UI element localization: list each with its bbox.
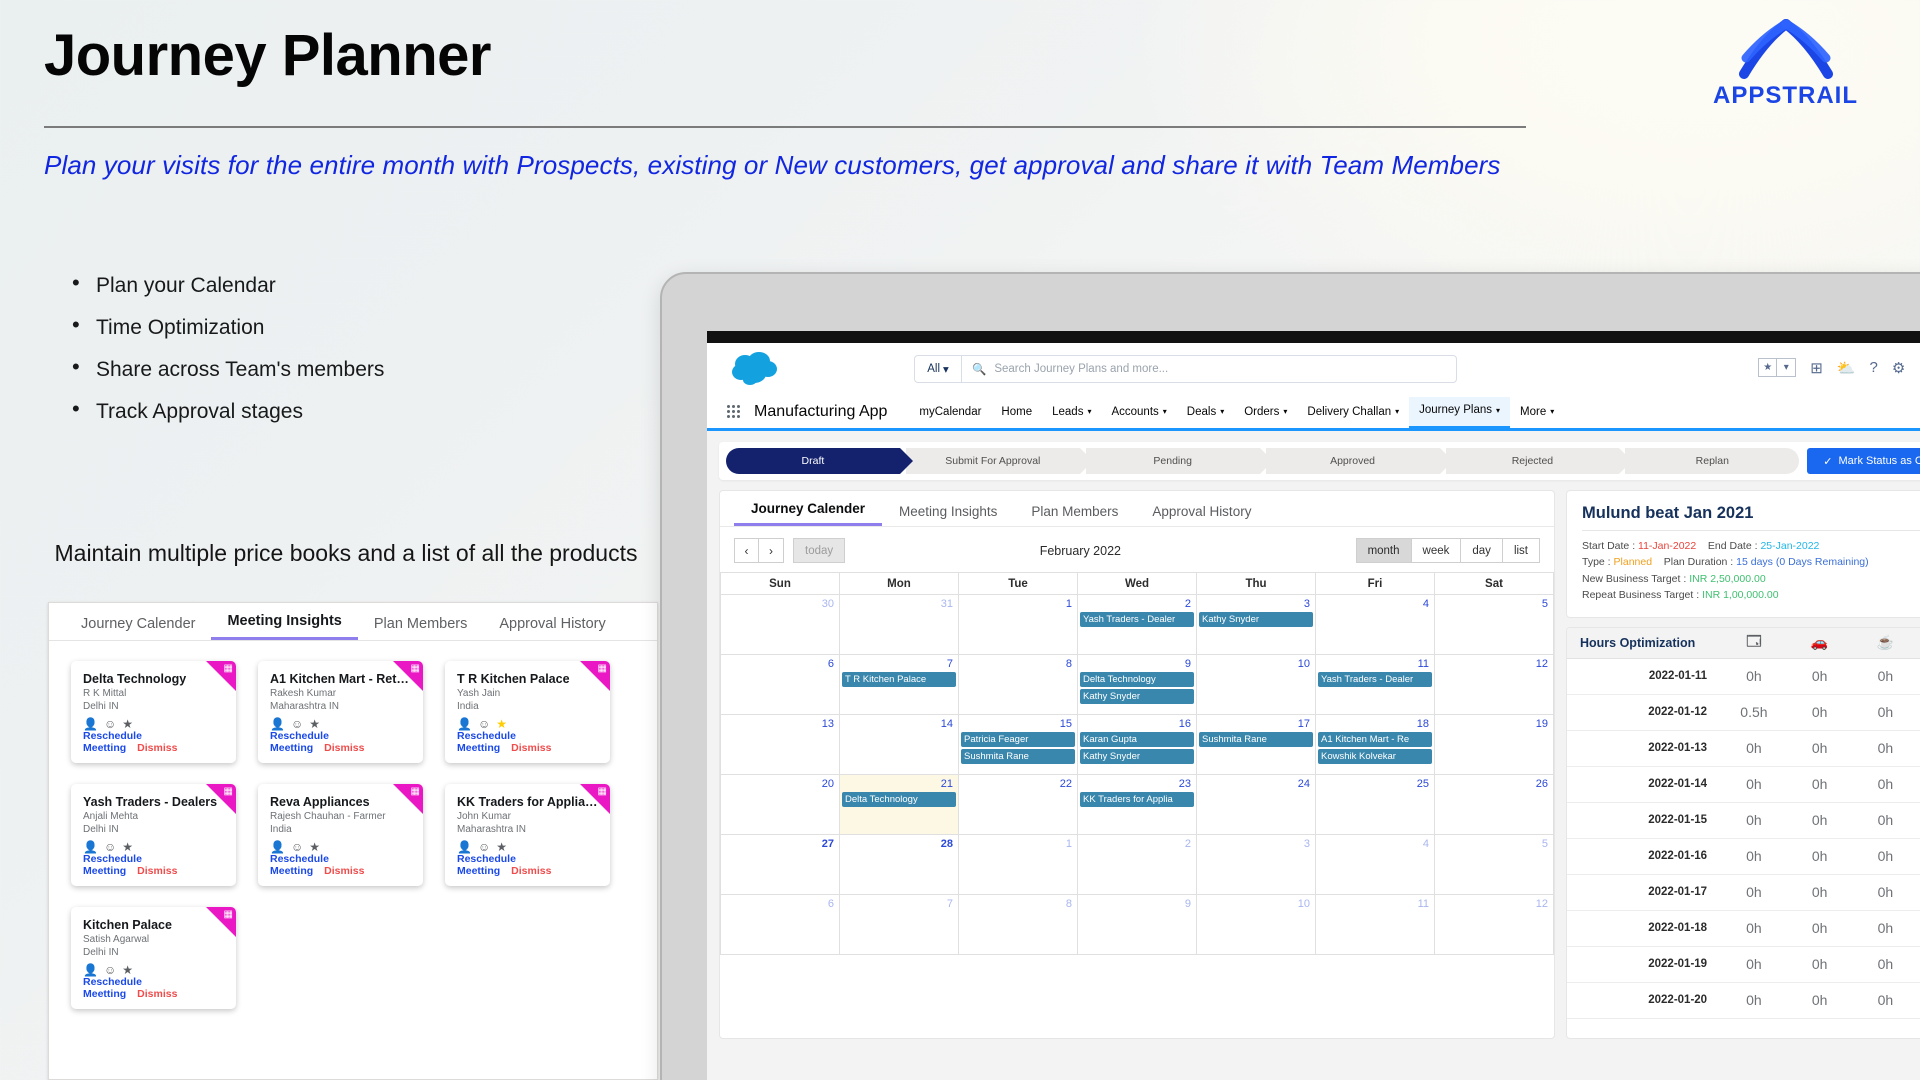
feature-bullet-2: Time Optimization bbox=[68, 317, 384, 338]
nav-item-label: Deals bbox=[1187, 406, 1216, 418]
reschedule-meeting-link[interactable]: Reschedule Meetting bbox=[457, 730, 516, 754]
card-actions: Reschedule MeettingDismiss bbox=[457, 730, 610, 754]
calendar-event[interactable]: T R Kitchen Palace bbox=[842, 672, 956, 687]
hours-value-3: 0h bbox=[1853, 766, 1919, 802]
weekday-wed: Wed bbox=[1078, 573, 1197, 595]
calendar-event[interactable]: Yash Traders - Dealer bbox=[1318, 672, 1432, 687]
meeting-insight-card[interactable]: ▦Yash Traders - DealersAnjali MehtaDelhi… bbox=[71, 784, 236, 886]
hours-value-2: 0h bbox=[1787, 730, 1853, 766]
hours-date: 2022-01-12 bbox=[1567, 694, 1721, 730]
calendar-event[interactable]: Delta Technology bbox=[1080, 672, 1194, 687]
nav-item-deals[interactable]: Deals▾ bbox=[1177, 399, 1234, 425]
calendar-view-list[interactable]: list bbox=[1503, 538, 1540, 563]
nav-item-orders[interactable]: Orders▾ bbox=[1234, 399, 1297, 425]
search-scope-value: All bbox=[927, 363, 940, 375]
calendar-week-row: 131415Patricia FeagerSushmita Rane16Kara… bbox=[721, 715, 1554, 775]
day-number: 17 bbox=[1199, 717, 1313, 732]
nav-item-label: More bbox=[1520, 406, 1546, 418]
next-month-button[interactable]: › bbox=[759, 538, 784, 563]
new-target-label: New Business Target : bbox=[1582, 573, 1686, 585]
salesforce-app: All ▾ 🔍 Search Journey Plans and more...… bbox=[707, 343, 1920, 1080]
hours-date: 2022-01-15 bbox=[1567, 802, 1721, 838]
reschedule-meeting-link[interactable]: Reschedule Meetting bbox=[457, 853, 516, 877]
weekday-mon: Mon bbox=[840, 573, 959, 595]
page-subtitle: Plan your visits for the entire month wi… bbox=[44, 148, 1529, 184]
reschedule-meeting-link[interactable]: Reschedule Meetting bbox=[270, 853, 329, 877]
hours-row: 2022-01-120.5h0h0h0.5h bbox=[1567, 694, 1920, 730]
meeting-insight-card[interactable]: ▦KK Traders for Appliances ...John Kumar… bbox=[445, 784, 610, 886]
calendar-icon: ▦ bbox=[598, 664, 607, 674]
app-navigation-bar: Manufacturing App myCalendarHomeLeads▾Ac… bbox=[707, 395, 1920, 431]
calendar-day-cell[interactable]: 18A1 Kitchen Mart - ReKowshik Kolvekar bbox=[1316, 715, 1435, 775]
app-name: Manufacturing App bbox=[754, 403, 887, 421]
calendar-event[interactable]: Kowshik Kolvekar bbox=[1318, 749, 1432, 764]
calendar-day-cell[interactable]: 23KK Traders for Applia bbox=[1078, 775, 1197, 835]
hours-row: 2022-01-160h0h0h0h bbox=[1567, 838, 1920, 874]
new-target-value: INR 2,50,000.00 bbox=[1689, 573, 1765, 585]
nav-item-label: myCalendar bbox=[919, 406, 981, 418]
appstrail-logo: APPSTRAIL bbox=[1698, 18, 1873, 110]
calendar-event[interactable]: Yash Traders - Dealer bbox=[1080, 612, 1194, 627]
hours-value-2: 0h bbox=[1787, 802, 1853, 838]
repeat-target-value: INR 1,00,000.00 bbox=[1702, 589, 1778, 601]
calendar-nav-group: ‹ › bbox=[734, 538, 784, 563]
calendar-day-cell[interactable]: 7T R Kitchen Palace bbox=[840, 655, 959, 715]
path-step-submit-for-approval[interactable]: Submit For Approval bbox=[906, 448, 1080, 474]
calendar-day-cell[interactable]: 3 bbox=[1197, 835, 1316, 895]
reschedule-meeting-link[interactable]: Reschedule Meetting bbox=[83, 853, 142, 877]
day-number: 10 bbox=[1199, 897, 1313, 912]
hours-optimization-card: Hours Optimization🗔🚗☕🕐 2022-01-110h0h0h0… bbox=[1566, 627, 1920, 1039]
meeting-insight-card[interactable]: ▦T R Kitchen PalaceYash JainIndia👤☺★Resc… bbox=[445, 661, 610, 763]
calendar-icon: ▦ bbox=[224, 664, 233, 674]
chevron-down-icon: ▾ bbox=[1163, 407, 1167, 416]
calendar-week-row: 303112Yash Traders - Dealer3Kathy Snyder… bbox=[721, 595, 1554, 655]
hours-value-3: 0h bbox=[1853, 730, 1919, 766]
page-title: Journey Planner bbox=[44, 22, 491, 89]
calendar-day-cell[interactable]: 3Kathy Snyder bbox=[1197, 595, 1316, 655]
hours-date: 2022-01-18 bbox=[1567, 910, 1721, 946]
hours-value-3: 0h bbox=[1853, 874, 1919, 910]
day-number: 1 bbox=[961, 597, 1075, 612]
day-number: 22 bbox=[961, 777, 1075, 792]
chevron-down-icon: ▾ bbox=[1550, 407, 1554, 416]
calendar-day-cell[interactable]: 5 bbox=[1435, 595, 1554, 655]
header-icon-group: ★ ▾ ⊞ ⛅ ? ⚙ 🔔 🐱 bbox=[1758, 355, 1920, 380]
path-step-pending[interactable]: Pending bbox=[1086, 448, 1260, 474]
calendar-event[interactable]: A1 Kitchen Mart - Re bbox=[1318, 732, 1432, 747]
calendar-day-cell[interactable]: 2Yash Traders - Dealer bbox=[1078, 595, 1197, 655]
chevron-down-icon: ▾ bbox=[1087, 407, 1091, 416]
calendar-view-day[interactable]: day bbox=[1461, 538, 1503, 563]
calendar-day-cell[interactable]: 26 bbox=[1435, 775, 1554, 835]
journey-tab-journey-calender[interactable]: Journey Calender bbox=[734, 501, 882, 526]
hours-row: 2022-01-190h0h0h0h bbox=[1567, 946, 1920, 982]
calendar-view-week[interactable]: week bbox=[1412, 538, 1462, 563]
meeting-insight-card[interactable]: ▦Kitchen PalaceSatish AgarwalDelhi IN👤☺★… bbox=[71, 907, 236, 1009]
favorites-star-icon[interactable]: ★ bbox=[1758, 358, 1777, 377]
insights-tab-plan-members[interactable]: Plan Members bbox=[358, 616, 483, 640]
day-number: 9 bbox=[1080, 897, 1194, 912]
weekday-sat: Sat bbox=[1435, 573, 1554, 595]
plan-type-line: Type : Planned Plan Duration : 15 days (… bbox=[1582, 554, 1920, 570]
reschedule-meeting-link[interactable]: Reschedule Meetting bbox=[270, 730, 329, 754]
card-actions: Reschedule MeettingDismiss bbox=[83, 976, 236, 1000]
weekday-tue: Tue bbox=[959, 573, 1078, 595]
hours-value-1: 0h bbox=[1721, 982, 1787, 1018]
calendar-day-cell[interactable]: 5 bbox=[1435, 835, 1554, 895]
path-step-replan[interactable]: Replan bbox=[1625, 448, 1799, 474]
title-divider bbox=[44, 126, 1526, 128]
day-number: 21 bbox=[842, 777, 956, 792]
day-number: 8 bbox=[961, 897, 1075, 912]
hours-date: 2022-01-17 bbox=[1567, 874, 1721, 910]
weekday-sun: Sun bbox=[721, 573, 840, 595]
card-actions: Reschedule MeettingDismiss bbox=[457, 853, 610, 877]
hours-value-2: 0h bbox=[1787, 658, 1853, 694]
hours-date: 2022-01-19 bbox=[1567, 946, 1721, 982]
app-launcher-icon[interactable] bbox=[727, 405, 740, 418]
hours-value-1: 0h bbox=[1721, 802, 1787, 838]
calendar-day-cell[interactable]: 21Delta Technology bbox=[840, 775, 959, 835]
card-location: India bbox=[270, 823, 411, 836]
card-actions: Reschedule MeettingDismiss bbox=[270, 853, 423, 877]
meeting-insight-card[interactable]: ▦A1 Kitchen Mart - RetailerRakesh KumarM… bbox=[258, 661, 423, 763]
insights-tab-approval-history[interactable]: Approval History bbox=[483, 616, 621, 640]
calendar-event[interactable]: Delta Technology bbox=[842, 792, 956, 807]
calendar-event[interactable]: Kathy Snyder bbox=[1080, 689, 1194, 704]
calendar-day-cell[interactable]: 19 bbox=[1435, 715, 1554, 775]
hours-row: 2022-01-130h0h0h0h bbox=[1567, 730, 1920, 766]
dismiss-link[interactable]: Dismiss bbox=[511, 865, 551, 877]
dismiss-link[interactable]: Dismiss bbox=[324, 865, 364, 877]
card-location: Maharashtra IN bbox=[457, 823, 598, 836]
nav-items: myCalendarHomeLeads▾Accounts▾Deals▾Order… bbox=[909, 397, 1564, 426]
calendar-day-cell[interactable]: 14 bbox=[840, 715, 959, 775]
calendar-day-cell[interactable]: 8 bbox=[959, 655, 1078, 715]
calendar-icon: ▦ bbox=[224, 787, 233, 797]
card-account-name: Delta Technology bbox=[83, 672, 224, 686]
global-search[interactable]: All ▾ 🔍 Search Journey Plans and more... bbox=[914, 355, 1457, 383]
weekday-fri: Fri bbox=[1316, 573, 1435, 595]
day-number: 3 bbox=[1199, 837, 1313, 852]
day-number: 12 bbox=[1437, 897, 1551, 912]
settings-gear-icon[interactable]: ⚙ bbox=[1892, 359, 1905, 377]
card-actions: Reschedule MeettingDismiss bbox=[83, 853, 236, 877]
day-number: 30 bbox=[723, 597, 837, 612]
card-account-name: T R Kitchen Palace bbox=[457, 672, 598, 686]
plan-dates-line: Start Date : 11-Jan-2022 End Date : 25-J… bbox=[1582, 538, 1920, 554]
calendar-icon: ▦ bbox=[411, 787, 420, 797]
chevron-down-icon: ▾ bbox=[1283, 407, 1287, 416]
mark-complete-label: Mark Status as Complete bbox=[1839, 455, 1920, 467]
hours-value-2: 0h bbox=[1787, 946, 1853, 982]
start-date-value: 11-Jan-2022 bbox=[1638, 540, 1696, 552]
prev-month-button[interactable]: ‹ bbox=[734, 538, 759, 563]
chevron-down-icon: ▾ bbox=[1220, 407, 1224, 416]
day-number: 10 bbox=[1199, 657, 1313, 672]
hours-date: 2022-01-20 bbox=[1567, 982, 1721, 1018]
add-icon[interactable]: ⊞ bbox=[1810, 359, 1823, 377]
calendar-day-cell[interactable]: 6 bbox=[721, 895, 840, 955]
calendar-day-cell[interactable]: 20 bbox=[721, 775, 840, 835]
mark-status-complete-button[interactable]: ✓ Mark Status as Complete bbox=[1807, 448, 1920, 474]
day-number: 16 bbox=[1080, 717, 1194, 732]
reschedule-meeting-link[interactable]: Reschedule Meetting bbox=[83, 976, 142, 1000]
hours-header-row: Hours Optimization🗔🚗☕🕐 bbox=[1567, 628, 1920, 658]
journey-tab-plan-members[interactable]: Plan Members bbox=[1014, 504, 1135, 526]
hours-rows: 2022-01-110h0h0h0h2022-01-120.5h0h0h0.5h… bbox=[1567, 658, 1920, 1018]
calendar-day-cell[interactable]: 22 bbox=[959, 775, 1078, 835]
card-location: Delhi IN bbox=[83, 700, 224, 713]
search-input[interactable]: 🔍 Search Journey Plans and more... bbox=[962, 355, 1457, 383]
hours-value-3: 0h bbox=[1853, 910, 1919, 946]
calendar-week-row: 2021Delta Technology2223KK Traders for A… bbox=[721, 775, 1554, 835]
day-number: 11 bbox=[1318, 897, 1432, 912]
card-location: India bbox=[457, 700, 598, 713]
path-step-draft[interactable]: Draft bbox=[726, 448, 900, 474]
day-number: 2 bbox=[1080, 837, 1194, 852]
hours-value-1: 0h bbox=[1721, 874, 1787, 910]
journey-tab-approval-history[interactable]: Approval History bbox=[1135, 504, 1268, 526]
hours-value-1: 0h bbox=[1721, 946, 1787, 982]
card-account-name: Kitchen Palace bbox=[83, 918, 224, 932]
calendar-icon: ▦ bbox=[224, 910, 233, 920]
nav-item-label: Journey Plans bbox=[1419, 404, 1492, 416]
hours-row: 2022-01-150h0h0h0h bbox=[1567, 802, 1920, 838]
meeting-insight-card[interactable]: ▦Delta TechnologyR K MittalDelhi IN👤☺★Re… bbox=[71, 661, 236, 763]
calendar-day-cell[interactable]: 13 bbox=[721, 715, 840, 775]
day-number: 14 bbox=[842, 717, 956, 732]
path-steps: DraftSubmit For ApprovalPendingApprovedR… bbox=[726, 448, 1799, 474]
calendar-day-cell[interactable]: 10 bbox=[1197, 655, 1316, 715]
repeat-target-label: Repeat Business Target : bbox=[1582, 589, 1699, 601]
card-account-name: KK Traders for Appliances ... bbox=[457, 795, 598, 809]
day-number: 5 bbox=[1437, 597, 1551, 612]
hours-date: 2022-01-16 bbox=[1567, 838, 1721, 874]
duration-label: Plan Duration : bbox=[1664, 556, 1733, 568]
help-icon[interactable]: ? bbox=[1870, 359, 1878, 376]
day-number: 6 bbox=[723, 897, 837, 912]
favorites-control[interactable]: ★ ▾ bbox=[1758, 358, 1796, 377]
calendar-day-cell[interactable]: 16Karan GuptaKathy Snyder bbox=[1078, 715, 1197, 775]
laptop-screen: All ▾ 🔍 Search Journey Plans and more...… bbox=[707, 331, 1920, 1080]
dismiss-link[interactable]: Dismiss bbox=[137, 988, 177, 1000]
chevron-down-icon: ▾ bbox=[1496, 406, 1500, 415]
laptop-mockup-frame: All ▾ 🔍 Search Journey Plans and more...… bbox=[660, 272, 1920, 1080]
day-number: 5 bbox=[1437, 837, 1551, 852]
day-number: 19 bbox=[1437, 717, 1551, 732]
day-number: 18 bbox=[1318, 717, 1432, 732]
calendar-icon: ▦ bbox=[411, 664, 420, 674]
hours-value-2: 0h bbox=[1787, 766, 1853, 802]
dismiss-link[interactable]: Dismiss bbox=[511, 742, 551, 754]
path-step-approved[interactable]: Approved bbox=[1266, 448, 1440, 474]
nav-item-delivery-challan[interactable]: Delivery Challan▾ bbox=[1297, 399, 1409, 425]
card-contact-name: R K Mittal bbox=[83, 687, 224, 700]
journey-tab-meeting-insights[interactable]: Meeting Insights bbox=[882, 504, 1014, 526]
car-travel-icon: 🚗 bbox=[1787, 628, 1853, 658]
hours-row: 2022-01-140h0h0h0h bbox=[1567, 766, 1920, 802]
nav-item-mycalendar[interactable]: myCalendar bbox=[909, 399, 991, 425]
hours-value-2: 0h bbox=[1787, 910, 1853, 946]
cloud-setup-icon[interactable]: ⛅ bbox=[1837, 359, 1856, 377]
card-contact-name: Rajesh Chauhan - Farmer bbox=[270, 810, 411, 823]
feature-bullet-list: Plan your CalendarTime OptimizationShare… bbox=[68, 275, 384, 443]
calendar-day-cell[interactable]: 1 bbox=[959, 595, 1078, 655]
check-icon: ✓ bbox=[1823, 455, 1832, 468]
favorites-chevron-icon[interactable]: ▾ bbox=[1777, 358, 1796, 377]
day-number: 4 bbox=[1318, 597, 1432, 612]
path-step-rejected[interactable]: Rejected bbox=[1446, 448, 1620, 474]
appstrail-chevron-icon bbox=[1734, 18, 1838, 80]
day-number: 15 bbox=[961, 717, 1075, 732]
coffee-break-icon: ☕ bbox=[1853, 628, 1919, 658]
calendar-event[interactable]: Kathy Snyder bbox=[1080, 749, 1194, 764]
calendar-event[interactable]: Patricia Feager bbox=[961, 732, 1075, 747]
day-number: 7 bbox=[842, 897, 956, 912]
approval-path-bar: DraftSubmit For ApprovalPendingApprovedR… bbox=[719, 442, 1920, 480]
nav-item-label: Accounts bbox=[1111, 406, 1158, 418]
hours-value-3: 0h bbox=[1853, 838, 1919, 874]
end-date-label: End Date : bbox=[1708, 540, 1758, 552]
calendar-day-cell[interactable]: 15Patricia FeagerSushmita Rane bbox=[959, 715, 1078, 775]
plan-divider bbox=[1582, 530, 1920, 531]
calendar-toolbar: ‹ › today February 2022 monthweekdaylist bbox=[720, 527, 1554, 572]
calendar-event[interactable]: Sushmita Rane bbox=[1199, 732, 1313, 747]
calendar-day-cell[interactable]: 9 bbox=[1078, 895, 1197, 955]
meeting-insight-card[interactable]: ▦Reva AppliancesRajesh Chauhan - FarmerI… bbox=[258, 784, 423, 886]
plan-summary-card: Mulund beat Jan 2021 Start Date : 11-Jan… bbox=[1566, 490, 1920, 618]
insights-tab-bar: Journey CalenderMeeting InsightsPlan Mem… bbox=[49, 603, 657, 641]
salesforce-cloud-icon[interactable] bbox=[729, 351, 779, 385]
day-number: 4 bbox=[1318, 837, 1432, 852]
repeat-business-target-line: Repeat Business Target : INR 1,00,000.00 bbox=[1582, 587, 1920, 603]
type-label: Type : bbox=[1582, 556, 1611, 568]
search-scope-select[interactable]: All ▾ bbox=[914, 355, 962, 383]
dismiss-link[interactable]: Dismiss bbox=[324, 742, 364, 754]
card-actions: Reschedule MeettingDismiss bbox=[83, 730, 236, 754]
hours-row: 2022-01-180h0h0h0h bbox=[1567, 910, 1920, 946]
feature-bullet-1: Plan your Calendar bbox=[68, 275, 384, 296]
calendar-day-cell[interactable]: 1 bbox=[959, 835, 1078, 895]
hours-optimization-title: Hours Optimization bbox=[1567, 628, 1721, 658]
insights-tab-meeting-insights[interactable]: Meeting Insights bbox=[211, 613, 357, 640]
dismiss-link[interactable]: Dismiss bbox=[137, 865, 177, 877]
day-number: 1 bbox=[961, 837, 1075, 852]
day-number: 3 bbox=[1199, 597, 1313, 612]
calendar-day-cell[interactable]: 9Delta TechnologyKathy Snyder bbox=[1078, 655, 1197, 715]
hours-date: 2022-01-14 bbox=[1567, 766, 1721, 802]
calendar-day-cell[interactable]: 10 bbox=[1197, 895, 1316, 955]
start-date-label: Start Date : bbox=[1582, 540, 1635, 552]
card-account-name: A1 Kitchen Mart - Retailer bbox=[270, 672, 411, 686]
reschedule-meeting-link[interactable]: Reschedule Meetting bbox=[83, 730, 142, 754]
calendar-day-cell[interactable]: 28 bbox=[840, 835, 959, 895]
calendar-view-month[interactable]: month bbox=[1356, 538, 1412, 563]
calendar-day-cell[interactable]: 17Sushmita Rane bbox=[1197, 715, 1316, 775]
calendar-day-cell[interactable]: 11Yash Traders - Dealer bbox=[1316, 655, 1435, 715]
nav-item-journey-plans[interactable]: Journey Plans▾ bbox=[1409, 397, 1510, 429]
nav-item-leads[interactable]: Leads▾ bbox=[1042, 399, 1101, 425]
feature-bullet-3: Share across Team's members bbox=[68, 359, 384, 380]
day-number: 6 bbox=[723, 657, 837, 672]
calendar-day-cell[interactable]: 31 bbox=[840, 595, 959, 655]
calendar-event[interactable]: Karan Gupta bbox=[1080, 732, 1194, 747]
day-number: 12 bbox=[1437, 657, 1551, 672]
calendar-day-cell[interactable]: 12 bbox=[1435, 895, 1554, 955]
calendar-view-switcher: monthweekdaylist bbox=[1356, 538, 1540, 563]
calendar-day-cell[interactable]: 27 bbox=[721, 835, 840, 895]
nav-item-more[interactable]: More▾ bbox=[1510, 399, 1564, 425]
calendar-day-cell[interactable]: 7 bbox=[840, 895, 959, 955]
calendar-day-cell[interactable]: 12 bbox=[1435, 655, 1554, 715]
calendar-grid: SunMonTueWedThuFriSat 303112Yash Traders… bbox=[720, 572, 1554, 955]
hours-value-2: 0h bbox=[1787, 838, 1853, 874]
calendar-event[interactable]: KK Traders for Applia bbox=[1080, 792, 1194, 807]
calendar-day-cell[interactable]: 25 bbox=[1316, 775, 1435, 835]
record-split-layout: Journey CalenderMeeting InsightsPlan Mem… bbox=[719, 490, 1920, 1039]
dismiss-link[interactable]: Dismiss bbox=[137, 742, 177, 754]
hours-value-1: 0h bbox=[1721, 910, 1787, 946]
calendar-day-cell[interactable]: 24 bbox=[1197, 775, 1316, 835]
journey-tab-bar: Journey CalenderMeeting InsightsPlan Mem… bbox=[720, 491, 1554, 527]
insights-card-grid: ▦Delta TechnologyR K MittalDelhi IN👤☺★Re… bbox=[49, 641, 657, 1009]
nav-item-label: Delivery Challan bbox=[1307, 406, 1391, 418]
search-placeholder: Search Journey Plans and more... bbox=[994, 363, 1168, 375]
day-number: 27 bbox=[723, 837, 837, 852]
card-contact-name: Yash Jain bbox=[457, 687, 598, 700]
weekday-thu: Thu bbox=[1197, 573, 1316, 595]
nav-item-home[interactable]: Home bbox=[991, 399, 1042, 425]
nav-item-accounts[interactable]: Accounts▾ bbox=[1101, 399, 1176, 425]
hours-value-3: 0h bbox=[1853, 946, 1919, 982]
day-number: 31 bbox=[842, 597, 956, 612]
type-value: Planned bbox=[1614, 556, 1653, 568]
day-number: 28 bbox=[842, 837, 956, 852]
nav-item-label: Orders bbox=[1244, 406, 1279, 418]
hours-value-1: 0h bbox=[1721, 766, 1787, 802]
record-body: DraftSubmit For ApprovalPendingApprovedR… bbox=[707, 431, 1920, 1080]
meeting-presentation-icon: 🗔 bbox=[1721, 628, 1787, 658]
day-number: 7 bbox=[842, 657, 956, 672]
calendar-icon: ▦ bbox=[598, 787, 607, 797]
calendar-week-row: 272812345 bbox=[721, 835, 1554, 895]
hours-value-2: 0h bbox=[1787, 982, 1853, 1018]
calendar-day-cell[interactable]: 30 bbox=[721, 595, 840, 655]
journey-calendar-card: Journey CalenderMeeting InsightsPlan Mem… bbox=[719, 490, 1555, 1039]
calendar-day-cell[interactable]: 2 bbox=[1078, 835, 1197, 895]
day-number: 26 bbox=[1437, 777, 1551, 792]
hours-value-2: 0h bbox=[1787, 694, 1853, 730]
search-icon: 🔍 bbox=[972, 362, 986, 376]
calendar-day-cell[interactable]: 6 bbox=[721, 655, 840, 715]
nav-item-label: Home bbox=[1001, 406, 1032, 418]
day-number: 24 bbox=[1199, 777, 1313, 792]
card-location: Delhi IN bbox=[83, 823, 224, 836]
calendar-day-cell[interactable]: 4 bbox=[1316, 835, 1435, 895]
day-number: 23 bbox=[1080, 777, 1194, 792]
calendar-day-cell[interactable]: 4 bbox=[1316, 595, 1435, 655]
calendar-day-cell[interactable]: 8 bbox=[959, 895, 1078, 955]
insights-tab-journey-calender[interactable]: Journey Calender bbox=[65, 616, 211, 640]
calendar-event[interactable]: Kathy Snyder bbox=[1199, 612, 1313, 627]
hours-optimization-table: Hours Optimization🗔🚗☕🕐 2022-01-110h0h0h0… bbox=[1567, 628, 1920, 1019]
chevron-down-icon: ▾ bbox=[1395, 407, 1399, 416]
hours-row: 2022-01-170h0h0h0h bbox=[1567, 874, 1920, 910]
calendar-day-cell[interactable]: 11 bbox=[1316, 895, 1435, 955]
calendar-event[interactable]: Sushmita Rane bbox=[961, 749, 1075, 764]
